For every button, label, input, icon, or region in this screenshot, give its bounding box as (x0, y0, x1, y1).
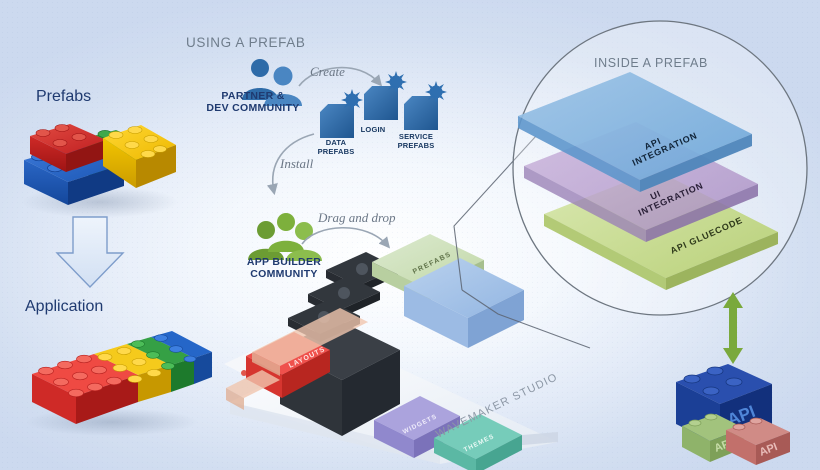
api-brick-red: API (726, 418, 790, 465)
file-service-prefabs (403, 81, 447, 130)
application-brick-slab (14, 318, 224, 448)
transform-arrow (40, 215, 150, 305)
create-label: Create (310, 64, 345, 80)
using-prefab-title: USING A PREFAB (186, 35, 305, 50)
install-arrow (252, 130, 342, 220)
install-label: Install (280, 156, 313, 172)
prefabs-label: Prefabs (36, 88, 91, 106)
application-label: Application (25, 298, 103, 316)
file-label-login: LOGIN (352, 125, 394, 134)
diagram-canvas: Prefabs (0, 0, 820, 470)
drag-and-drop-label: Drag and drop (318, 210, 396, 226)
prefabs-brick-cluster (8, 108, 208, 228)
api-bricks-group: API API API (668, 360, 808, 470)
inside-prefab-title: INSIDE A PREFAB (594, 56, 708, 70)
file-label-service-prefabs: SERVICE PREFABS (390, 132, 442, 150)
